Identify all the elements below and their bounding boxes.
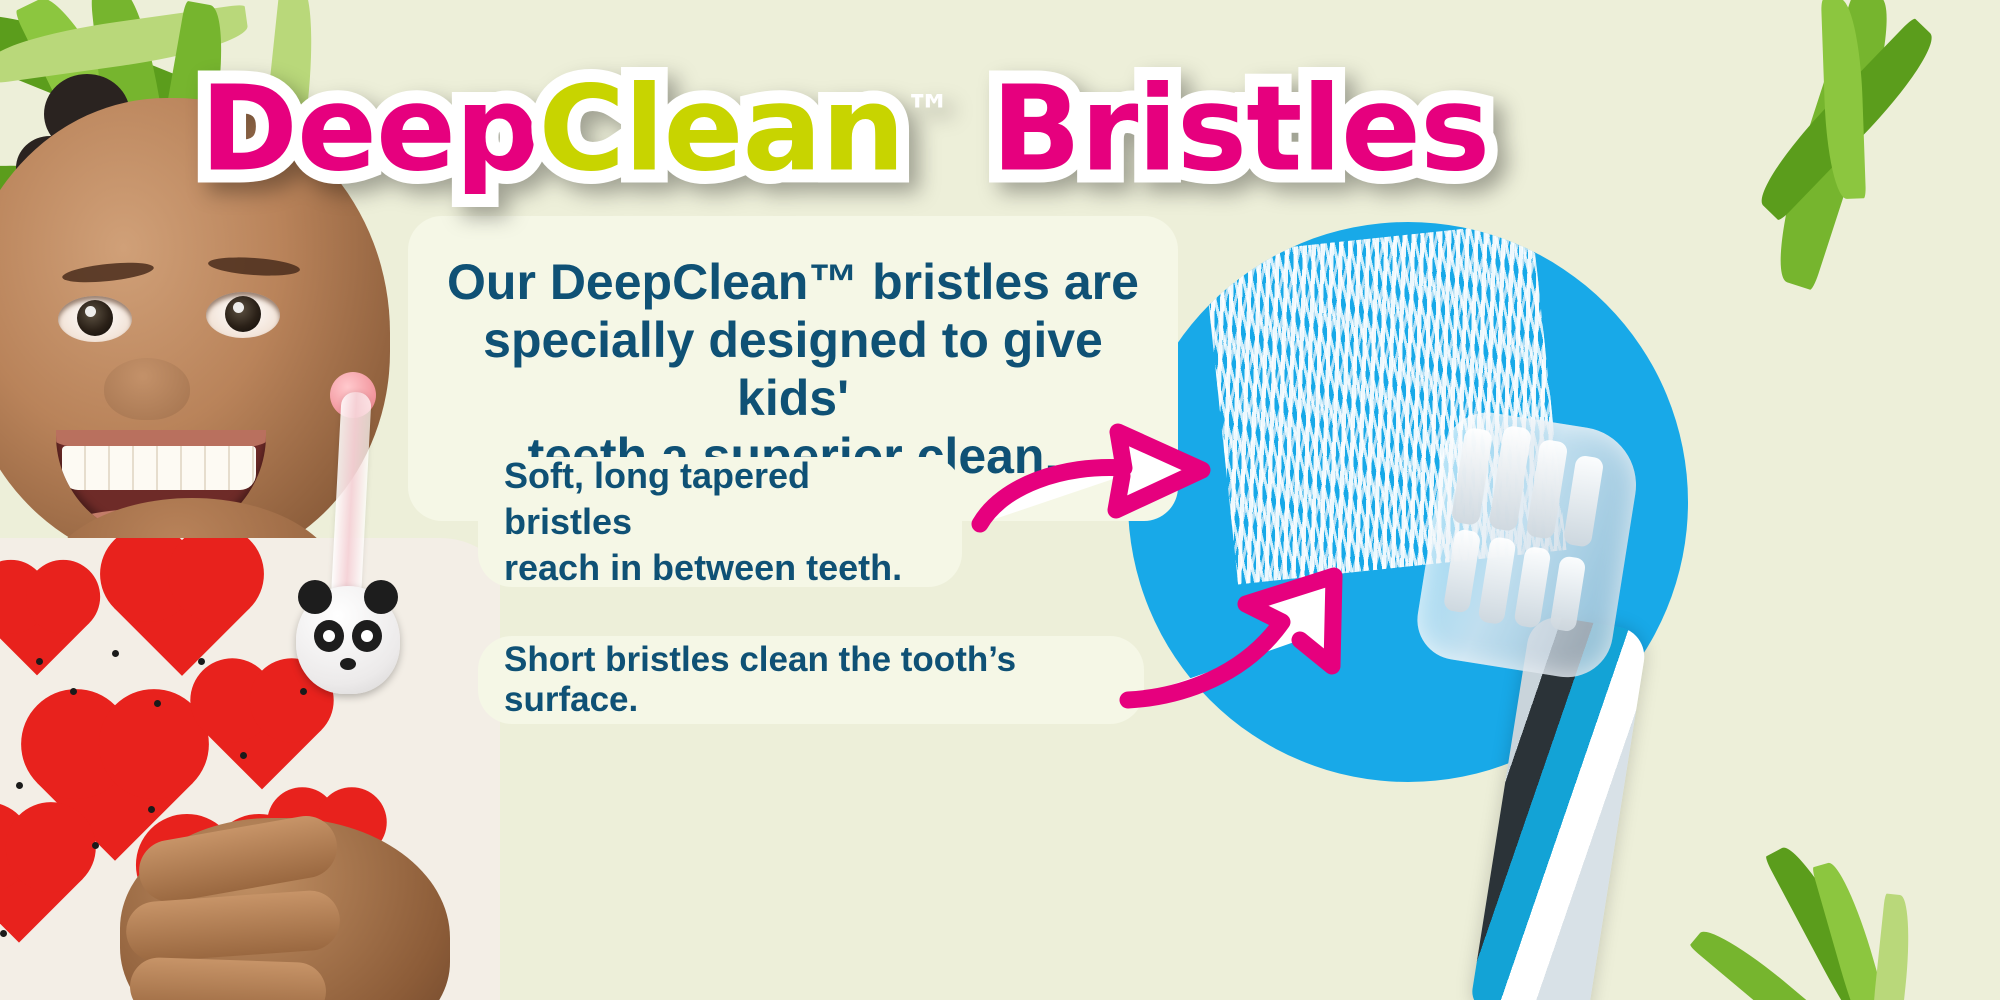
callout-main-line1: Our DeepClean™ bristles are	[436, 253, 1150, 311]
brand-title: DeepClean™ Bristles	[200, 38, 1500, 188]
callout-soft-bristles: Soft, long tapered bristles reach in bet…	[478, 457, 962, 587]
banner-root: DeepClean™ Bristles Our DeepClean™ brist…	[0, 0, 2000, 1000]
curved-arrow-top-icon	[966, 398, 1266, 558]
title-part-bristles: Bristles	[991, 59, 1489, 197]
toothbrush-head-photo	[1412, 406, 1645, 684]
child-eye-left	[58, 296, 132, 342]
callout-soft-line1: Soft, long tapered bristles	[504, 453, 936, 545]
title-part-clean: Clean	[538, 59, 904, 197]
title-part-deep: Deep	[200, 59, 538, 197]
callout-short-bristles: Short bristles clean the tooth’s surface…	[478, 636, 1144, 724]
trademark-symbol: ™	[904, 85, 951, 141]
callout-soft-line2: reach in between teeth.	[504, 545, 936, 591]
curved-arrow-bottom-icon	[1118, 560, 1418, 720]
panda-character	[296, 586, 400, 694]
child-eye-right	[206, 292, 280, 338]
callout-short-line1: Short bristles clean the tooth’s surface…	[504, 640, 1118, 720]
